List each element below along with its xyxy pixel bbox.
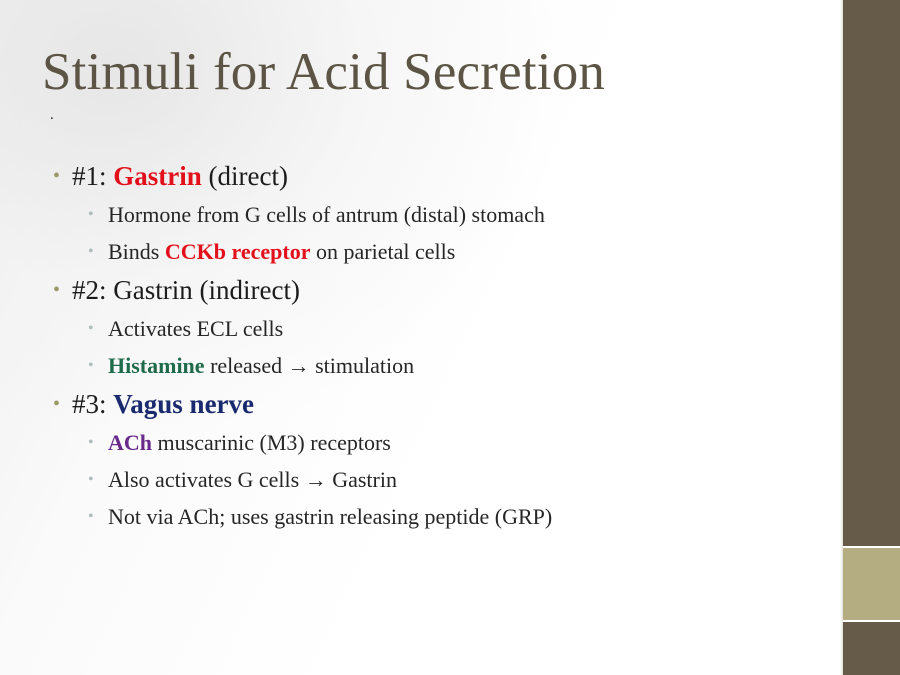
bullet-text-prefix: #2: Gastrin (indirect): [72, 275, 300, 305]
bullet-marker-level1-icon: •: [53, 384, 60, 424]
subbullet-text-post: released → stimulation: [205, 353, 415, 378]
bullet-marker-level2-icon: •: [88, 347, 94, 384]
subbullet-text-pre: Hormone from G cells of antrum (distal) …: [108, 202, 545, 227]
bullet-level2: • Activates ECL cells: [44, 310, 804, 347]
bullet-level1: • #3: Vagus nerve: [44, 384, 804, 424]
subbullet-text-post: on parietal cells: [310, 239, 455, 264]
presentation-slide: Stimuli for Acid Secretion . • #1: Gastr…: [0, 0, 900, 675]
bullet-marker-level2-icon: •: [88, 424, 94, 461]
bullet-level1: • #1: Gastrin (direct): [44, 156, 804, 196]
bullet-text-prefix: #1:: [72, 161, 113, 191]
bullet-marker-level2-icon: •: [88, 310, 94, 347]
subbullet-text-emphasis: CCKb receptor: [165, 239, 311, 264]
bullet-marker-level2-icon: •: [88, 498, 94, 535]
stray-period-mark: .: [50, 108, 54, 123]
bullet-text-prefix: #3:: [72, 389, 113, 419]
subbullet-text-pre: Also activates G cells → Gastrin: [108, 467, 397, 492]
bullet-text-emphasis: Vagus nerve: [113, 389, 254, 419]
bullet-text-suffix: (direct): [202, 161, 288, 191]
bullet-text-emphasis: Gastrin: [113, 161, 202, 191]
bullet-level2: • Not via ACh; uses gastrin releasing pe…: [44, 498, 804, 535]
bullet-level2: • Binds CCKb receptor on parietal cells: [44, 233, 804, 270]
bullet-marker-level2-icon: •: [88, 461, 94, 498]
subbullet-text-emphasis: Histamine: [108, 353, 205, 378]
slide-title: Stimuli for Acid Secretion: [42, 44, 605, 101]
subbullet-text-pre: Binds: [108, 239, 165, 264]
subbullet-text-emphasis: ACh: [108, 430, 152, 455]
sidebar-band-bottom: [843, 622, 900, 675]
subbullet-text-post: muscarinic (M3) receptors: [152, 430, 391, 455]
bullet-level2: • ACh muscarinic (M3) receptors: [44, 424, 804, 461]
slide-decorative-sidebar: [843, 0, 900, 675]
bullet-marker-level1-icon: •: [53, 156, 60, 196]
slide-body-content: • #1: Gastrin (direct) • Hormone from G …: [44, 156, 804, 535]
bullet-level2: • Histamine released → stimulation: [44, 347, 804, 384]
sidebar-band-middle: [843, 548, 900, 620]
bullet-marker-level2-icon: •: [88, 196, 94, 233]
sidebar-band-top: [843, 0, 900, 546]
subbullet-text-pre: Activates ECL cells: [108, 316, 283, 341]
bullet-level1: • #2: Gastrin (indirect): [44, 270, 804, 310]
bullet-level2: • Hormone from G cells of antrum (distal…: [44, 196, 804, 233]
bullet-marker-level1-icon: •: [53, 270, 60, 310]
bullet-marker-level2-icon: •: [88, 233, 94, 270]
subbullet-text-pre: Not via ACh; uses gastrin releasing pept…: [108, 504, 552, 529]
bullet-level2: • Also activates G cells → Gastrin: [44, 461, 804, 498]
